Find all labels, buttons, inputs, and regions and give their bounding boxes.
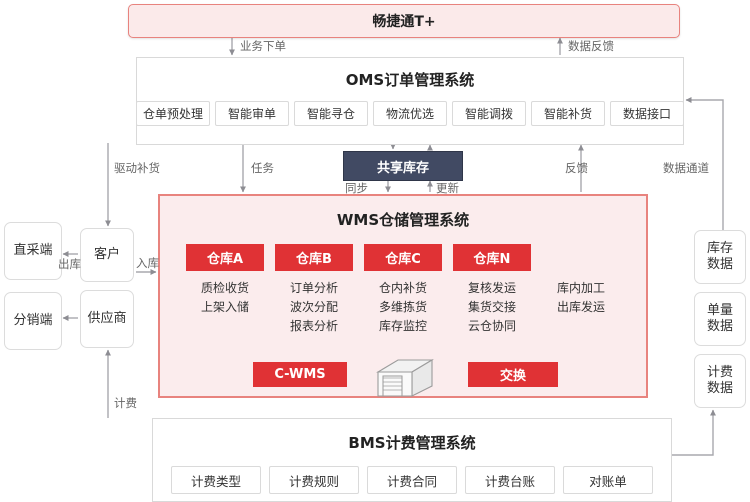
wms-column: 仓库C 仓内补货 多维拣货 库存监控 [364, 244, 442, 336]
edge-label-feedback: 反馈 [565, 160, 588, 176]
edge-label-task: 任务 [251, 160, 274, 176]
shared-inventory-box[interactable]: 共享库存 [343, 151, 463, 181]
edge-label-billing: 计费 [114, 395, 137, 411]
node-order-volume-data[interactable]: 单量数据 [694, 292, 746, 346]
wms-column: 库内加工 出库发运 [542, 244, 620, 336]
cwms-tag[interactable]: C-WMS [253, 362, 347, 387]
wms-warehouse-header[interactable]: 仓库N [453, 244, 531, 271]
exchange-tag[interactable]: 交换 [468, 362, 558, 387]
wms-title: WMS仓储管理系统 [160, 209, 646, 230]
oms-module-list: 仓单预处理 智能审单 智能寻仓 物流优选 智能调拨 智能补货 数据接口 [137, 101, 683, 126]
node-label: 客户 [94, 247, 120, 263]
oms-module-item[interactable]: 智能调拨 [452, 101, 526, 126]
wms-column: 仓库B 订单分析 波次分配 报表分析 [275, 244, 353, 336]
diagram-canvas: 畅捷通T+ 业务下单 数据反馈 OMS订单管理系统 仓单预处理 智能审单 智能寻… [0, 0, 750, 500]
wms-feature[interactable]: 仓内补货 [379, 279, 427, 298]
node-label: 直采端 [13, 243, 52, 259]
wms-feature[interactable]: 复核发运 [468, 279, 516, 298]
wms-column-list: 仓库A 质检收货 上架入储 仓库B 订单分析 波次分配 报表分析 仓库C 仓内补… [160, 244, 646, 336]
wms-warehouse-header[interactable]: 仓库C [364, 244, 442, 271]
oms-module-item[interactable]: 智能审单 [215, 101, 289, 126]
bms-module-item[interactable]: 计费合同 [367, 466, 457, 494]
bms-module-item[interactable]: 计费规则 [269, 466, 359, 494]
node-billing-data[interactable]: 计费数据 [694, 354, 746, 408]
cwms-tag-label: C-WMS [274, 367, 325, 382]
oms-module-item[interactable]: 智能补货 [531, 101, 605, 126]
bms-title: BMS计费管理系统 [153, 432, 671, 453]
wms-warehouse-header[interactable]: 仓库B [275, 244, 353, 271]
wms-feature[interactable]: 库内加工 [557, 279, 605, 298]
bms-panel: BMS计费管理系统 计费类型 计费规则 计费合同 计费台账 对账单 [152, 418, 672, 502]
bms-module-item[interactable]: 对账单 [563, 466, 653, 494]
wms-feature[interactable]: 多维拣货 [379, 298, 427, 317]
node-label: 库存数据 [707, 241, 733, 273]
app-banner: 畅捷通T+ [128, 4, 680, 38]
node-direct-procurement[interactable]: 直采端 [4, 222, 62, 280]
oms-module-item[interactable]: 物流优选 [373, 101, 447, 126]
app-banner-title: 畅捷通T+ [372, 11, 435, 31]
oms-panel: OMS订单管理系统 仓单预处理 智能审单 智能寻仓 物流优选 智能调拨 智能补货… [136, 57, 684, 145]
node-distribution[interactable]: 分销端 [4, 292, 62, 350]
node-inventory-data[interactable]: 库存数据 [694, 230, 746, 284]
exchange-tag-label: 交换 [500, 365, 526, 384]
wms-feature[interactable]: 出库发运 [557, 298, 605, 317]
edge-label-order-placing: 业务下单 [240, 38, 286, 54]
wms-feature[interactable]: 订单分析 [290, 279, 338, 298]
wms-feature[interactable]: 云仓协同 [468, 317, 516, 336]
bms-module-list: 计费类型 计费规则 计费合同 计费台账 对账单 [153, 466, 671, 494]
wms-warehouse-header[interactable]: 仓库A [186, 244, 264, 271]
edge-label-drive-replenish: 驱动补货 [114, 160, 160, 176]
wms-feature[interactable]: 波次分配 [290, 298, 338, 317]
shared-inventory-label: 共享库存 [377, 157, 429, 176]
edge-label-inbound: 入库 [136, 255, 159, 271]
wms-feature[interactable]: 库存监控 [379, 317, 427, 336]
node-label: 分销端 [13, 313, 52, 329]
node-label: 供应商 [87, 311, 126, 327]
wms-feature[interactable]: 集货交接 [468, 298, 516, 317]
node-label: 计费数据 [707, 365, 733, 397]
oms-module-item[interactable]: 智能寻仓 [294, 101, 368, 126]
wms-column: 仓库N 复核发运 集货交接 云仓协同 [453, 244, 531, 336]
wms-feature[interactable]: 质检收货 [201, 279, 249, 298]
node-label: 单量数据 [707, 303, 733, 335]
warehouse-house-icon [372, 356, 438, 398]
bms-module-item[interactable]: 计费类型 [171, 466, 261, 494]
edge-label-data-channel: 数据通道 [663, 160, 709, 176]
edge-label-data-feedback: 数据反馈 [568, 38, 614, 54]
oms-module-item[interactable]: 仓单预处理 [136, 101, 210, 126]
node-customer[interactable]: 客户 [80, 228, 134, 282]
wms-warehouse-header-empty [542, 244, 620, 271]
edge-label-outbound: 出库 [58, 256, 81, 272]
oms-title: OMS订单管理系统 [137, 69, 683, 90]
wms-feature[interactable]: 上架入储 [201, 298, 249, 317]
wms-column: 仓库A 质检收货 上架入储 [186, 244, 264, 336]
node-supplier[interactable]: 供应商 [80, 290, 134, 348]
wms-feature[interactable]: 报表分析 [290, 317, 338, 336]
bms-module-item[interactable]: 计费台账 [465, 466, 555, 494]
oms-module-item[interactable]: 数据接口 [610, 101, 684, 126]
